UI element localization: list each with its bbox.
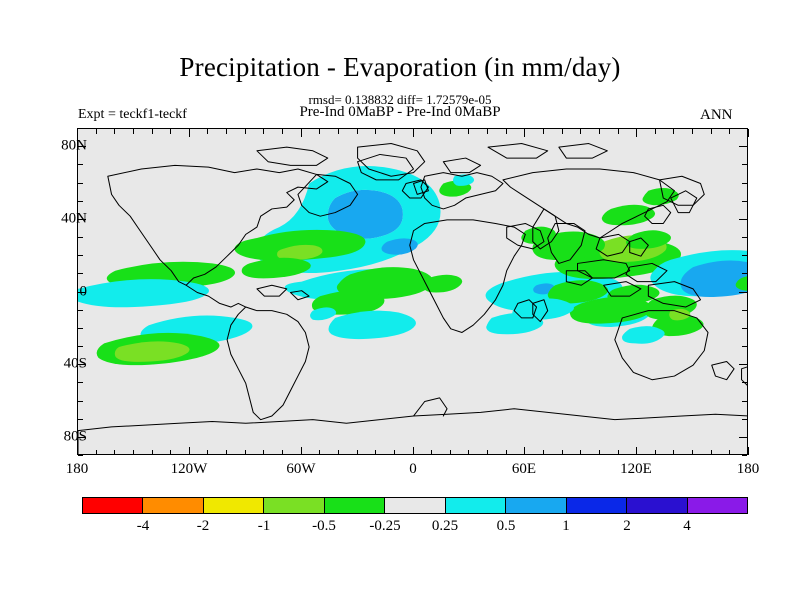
- x-axis-tick: [245, 450, 246, 455]
- x-axis-tick: [357, 450, 358, 455]
- colorbar-segment: [142, 498, 202, 513]
- colorbar-tick-label: 0.5: [497, 518, 516, 535]
- x-axis-tick: [655, 450, 656, 455]
- y-axis-tick: [78, 164, 83, 165]
- colorbar-tick-label: -4: [137, 518, 150, 535]
- x-axis-tick: [226, 450, 227, 455]
- colorbar-tick-label: -0.25: [369, 518, 400, 535]
- x-axis-tick: [599, 450, 600, 455]
- x-axis-tick: [338, 450, 339, 455]
- y-axis-tick: [78, 419, 83, 420]
- x-axis-tick: [338, 129, 339, 134]
- x-axis-tick: [431, 450, 432, 455]
- y-axis-tick: [742, 128, 747, 129]
- x-axis-tick: [282, 450, 283, 455]
- x-axis-tick: [692, 129, 693, 134]
- x-axis-tick: [506, 450, 507, 455]
- x-axis-tick: [375, 450, 376, 455]
- colorbar-segment: [687, 498, 747, 513]
- colorbar-tick-label: -2: [197, 518, 210, 535]
- colorbar-segment: [384, 498, 444, 513]
- latitude-label: 80S: [64, 429, 87, 446]
- x-axis-tick: [450, 129, 451, 134]
- y-axis-tick: [78, 273, 83, 274]
- x-axis-tick: [170, 129, 171, 134]
- y-axis-tick: [78, 310, 83, 311]
- y-axis-tick: [78, 382, 83, 383]
- x-axis-tick: [636, 447, 637, 455]
- y-axis-tick: [78, 455, 83, 456]
- x-axis-tick: [207, 450, 208, 455]
- x-axis-tick: [245, 129, 246, 134]
- x-axis-tick: [636, 129, 637, 137]
- x-axis-tick: [301, 447, 302, 455]
- x-axis-tick: [450, 450, 451, 455]
- colorbar-segment: [626, 498, 686, 513]
- map-plot-area: [77, 128, 748, 455]
- colorbar-segment: [324, 498, 384, 513]
- y-axis-tick: [742, 237, 747, 238]
- y-axis-tick: [742, 183, 747, 184]
- x-axis-tick: [673, 450, 674, 455]
- latitude-label: 0: [80, 284, 88, 301]
- x-axis-tick: [263, 129, 264, 134]
- x-axis-tick: [319, 450, 320, 455]
- x-axis-tick: [524, 129, 525, 137]
- latitude-label: 40N: [61, 211, 87, 228]
- y-axis-tick: [742, 164, 747, 165]
- x-axis-tick: [468, 450, 469, 455]
- x-axis-tick: [618, 450, 619, 455]
- colorbar-segment: [263, 498, 323, 513]
- colorbar-segment: [83, 498, 142, 513]
- x-axis-tick: [77, 129, 78, 137]
- x-axis-tick: [263, 450, 264, 455]
- x-axis-tick: [226, 129, 227, 134]
- x-axis-tick: [729, 129, 730, 134]
- y-axis-tick: [78, 237, 83, 238]
- x-axis-tick: [580, 129, 581, 134]
- case-label: Pre-Ind 0MaBP - Pre-Ind 0MaBP: [0, 104, 800, 121]
- x-axis-tick: [562, 129, 563, 134]
- colorbar-segment: [445, 498, 505, 513]
- y-axis-tick: [739, 146, 747, 147]
- x-axis-tick: [413, 447, 414, 455]
- colorbar-tick-label: -0.5: [312, 518, 336, 535]
- figure-title: Precipitation - Evaporation (in mm/day): [0, 52, 800, 83]
- x-axis-tick: [96, 450, 97, 455]
- season-label: ANN: [700, 107, 733, 124]
- y-axis-tick: [78, 255, 83, 256]
- map-graphic: [78, 129, 748, 455]
- x-axis-tick: [748, 447, 749, 455]
- x-axis-tick: [152, 129, 153, 134]
- y-axis-tick: [78, 328, 83, 329]
- x-axis-tick: [207, 129, 208, 134]
- anomaly-shading: [78, 166, 748, 365]
- x-axis-tick: [543, 129, 544, 134]
- x-axis-tick: [487, 129, 488, 134]
- x-axis-tick: [301, 129, 302, 137]
- y-axis-tick: [78, 346, 83, 347]
- longitude-label: 60W: [286, 461, 315, 478]
- y-axis-tick: [78, 201, 83, 202]
- latitude-label: 80N: [61, 138, 87, 155]
- x-axis-tick: [431, 129, 432, 134]
- x-axis-tick: [692, 450, 693, 455]
- y-axis-tick: [742, 273, 747, 274]
- x-axis-tick: [748, 129, 749, 137]
- x-axis-tick: [562, 450, 563, 455]
- longitude-label: 120W: [171, 461, 208, 478]
- y-axis-tick: [742, 419, 747, 420]
- x-axis-tick: [711, 129, 712, 134]
- x-axis-tick: [319, 129, 320, 134]
- x-axis-tick: [413, 129, 414, 137]
- colorbar-tick-label: -1: [258, 518, 271, 535]
- x-axis-tick: [114, 450, 115, 455]
- x-axis-tick: [599, 129, 600, 134]
- x-axis-tick: [506, 129, 507, 134]
- x-axis-tick: [189, 447, 190, 455]
- x-axis-tick: [96, 129, 97, 134]
- x-axis-tick: [729, 450, 730, 455]
- x-axis-tick: [77, 447, 78, 455]
- longitude-label: 180: [737, 461, 760, 478]
- y-axis-tick: [742, 328, 747, 329]
- x-axis-tick: [673, 129, 674, 134]
- x-axis-tick: [487, 450, 488, 455]
- x-axis-tick: [357, 129, 358, 134]
- x-axis-tick: [133, 129, 134, 134]
- y-axis-tick: [739, 437, 747, 438]
- y-axis-tick: [742, 455, 747, 456]
- y-axis-tick: [742, 310, 747, 311]
- y-axis-tick: [742, 201, 747, 202]
- y-axis-tick: [739, 292, 747, 293]
- x-axis-tick: [133, 450, 134, 455]
- colorbar-segment: [566, 498, 626, 513]
- x-axis-tick: [189, 129, 190, 137]
- longitude-label: 0: [409, 461, 417, 478]
- x-axis-tick: [394, 450, 395, 455]
- colorbar-tick-label: 1: [562, 518, 570, 535]
- x-axis-tick: [655, 129, 656, 134]
- longitude-label: 180: [66, 461, 89, 478]
- x-axis-tick: [543, 450, 544, 455]
- y-axis-tick: [739, 219, 747, 220]
- x-axis-tick: [524, 447, 525, 455]
- x-axis-tick: [394, 129, 395, 134]
- colorbar-tick-label: 0.25: [432, 518, 458, 535]
- colorbar-tick-label: 4: [683, 518, 691, 535]
- latitude-label: 40S: [64, 356, 87, 373]
- x-axis-tick: [114, 129, 115, 134]
- y-axis-tick: [739, 364, 747, 365]
- longitude-label: 120E: [620, 461, 652, 478]
- x-axis-tick: [375, 129, 376, 134]
- y-axis-tick: [742, 382, 747, 383]
- y-axis-tick: [78, 401, 83, 402]
- colorbar-segment: [505, 498, 565, 513]
- x-axis-tick: [170, 450, 171, 455]
- x-axis-tick: [711, 450, 712, 455]
- colorbar: [82, 497, 748, 514]
- y-axis-tick: [742, 346, 747, 347]
- y-axis-tick: [742, 255, 747, 256]
- longitude-label: 60E: [512, 461, 536, 478]
- y-axis-tick: [78, 128, 83, 129]
- x-axis-tick: [618, 129, 619, 134]
- colorbar-segment: [203, 498, 263, 513]
- figure-canvas: Precipitation - Evaporation (in mm/day) …: [0, 0, 800, 600]
- x-axis-tick: [282, 129, 283, 134]
- colorbar-tick-label: 2: [623, 518, 631, 535]
- x-axis-tick: [580, 450, 581, 455]
- y-axis-tick: [742, 401, 747, 402]
- y-axis-tick: [78, 183, 83, 184]
- x-axis-tick: [468, 129, 469, 134]
- x-axis-tick: [152, 450, 153, 455]
